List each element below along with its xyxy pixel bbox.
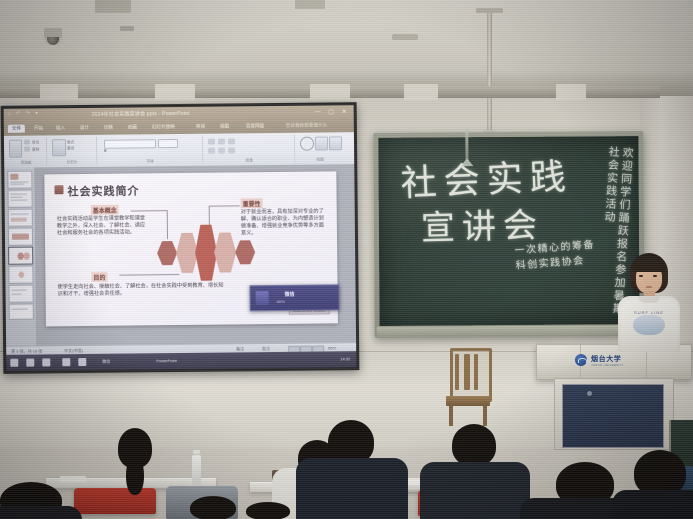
slide-canvas[interactable]: 社会实践简介 基本概念 社会实践活动是学生在课堂教学和课堂教学之外，深入社会、了… [34, 164, 356, 345]
ribbon-group-slides[interactable]: 版式 重设 幻灯片 [48, 137, 97, 166]
ribbon-tab-home[interactable]: 开始 [34, 125, 43, 131]
ribbon-tab-tellme[interactable]: 告诉我你想要做什么 [286, 122, 327, 128]
align-center-icon[interactable] [218, 148, 225, 154]
cut-label: 剪切 [32, 140, 39, 145]
section-heading-purpose: 目的 [91, 272, 107, 282]
file-explorer-icon[interactable] [62, 358, 70, 366]
taskbar-item-powerpoint[interactable]: PowerPoint [156, 358, 177, 363]
rail-clip [404, 84, 438, 100]
line-spacing-icon[interactable] [228, 147, 235, 153]
hexagon-3 [195, 225, 218, 281]
rail-clip [155, 84, 195, 100]
notification-title: 微信 [285, 291, 295, 298]
slide-thumbnail-4[interactable] [8, 228, 33, 246]
app-notification-icon [256, 291, 269, 305]
blackboard-title-line2: 宣讲会 [420, 198, 544, 250]
ribbon-group-label-paragraph: 段落 [204, 158, 294, 164]
layout-label: 版式 [67, 140, 74, 145]
powerpoint-title: 2024年社会实践宣讲会.pptx - PowerPoint [92, 110, 190, 118]
title-accent-bar [54, 185, 63, 194]
ribbon-tab-design[interactable]: 设计 [80, 125, 89, 131]
cut-icon[interactable] [24, 140, 30, 145]
water-bottle [192, 455, 201, 485]
paste-icon[interactable] [9, 140, 22, 158]
rail-clip [40, 84, 78, 100]
zoom-level[interactable]: 66% [328, 345, 336, 350]
audience-head [190, 496, 236, 519]
quick-access-toolbar[interactable]: ⌂ ↶ ↷ ▾ [8, 110, 40, 116]
window-controls[interactable]: — ▢ ✕ [315, 108, 350, 115]
slide-thumbnail-panel[interactable] [4, 168, 37, 346]
chair-slat [455, 354, 459, 390]
shirt-graphic [633, 315, 665, 335]
font-size-select[interactable] [158, 139, 178, 148]
shirt-graphic-text: SURF LINE [632, 310, 666, 315]
audience-torso [296, 458, 408, 519]
indent-icon[interactable] [228, 138, 235, 144]
notebook-paper [60, 476, 86, 482]
hexagon-5 [235, 240, 255, 264]
ribbon-group-label-clipboard: 剪贴板 [6, 160, 46, 165]
audience-torso [0, 506, 82, 519]
speaker-mount-icon [487, 8, 492, 134]
slide-thumbnail-6[interactable] [8, 266, 33, 284]
chalk-tray [377, 325, 643, 338]
numbering-icon[interactable] [218, 139, 225, 145]
presenter-mouth [646, 286, 652, 288]
blackboard-surface: 社会实践 宣讲会 一次精心的筹备 科创实践协会 欢迎同学们踊跃报名参加暑期社会实… [378, 136, 639, 326]
windows-taskbar[interactable]: 微信 PowerPoint 14:32 [6, 351, 356, 371]
taskbar-item-wechat[interactable]: 微信 [102, 359, 110, 365]
ribbon[interactable]: 剪切 复制 剪贴板 版式 重设 幻灯片 B 字体 [4, 132, 354, 169]
shapes-icon[interactable] [300, 137, 314, 151]
browser-icon[interactable] [78, 358, 86, 366]
audience-chair [74, 488, 156, 514]
presenter-speaker: SURF LINE [616, 253, 682, 351]
bold-italic-underline-icons[interactable]: B [104, 149, 110, 153]
lecture-hall-scene: ⌂ ↶ ↷ ▾ 2024年社会实践宣讲会.pptx - PowerPoint —… [0, 0, 693, 519]
chair-slat [474, 354, 478, 390]
blackboard: 社会实践 宣讲会 一次精心的筹备 科创实践协会 欢迎同学们踊跃报名参加暑期社会实… [373, 131, 644, 338]
hexagon-2 [176, 233, 198, 273]
blackboard-subtitle: 一次精心的筹备 科创实践协会 [514, 238, 597, 274]
ribbon-group-drawing[interactable]: 绘图 [296, 134, 344, 163]
ribbon-tab-review[interactable]: 审阅 [196, 124, 205, 130]
audience-head [246, 502, 290, 519]
bottle-cap [193, 450, 200, 454]
presenter-fringe [632, 259, 666, 272]
chair-slat-center [464, 354, 470, 390]
notification-toast[interactable]: 微信 66% [249, 284, 339, 311]
ribbon-tab-insert[interactable]: 插入 [56, 125, 65, 131]
audience-ponytail [126, 455, 144, 495]
slide-thumbnail-5-selected[interactable] [8, 247, 33, 265]
align-left-icon[interactable] [208, 148, 215, 154]
slide-thumbnail-3[interactable] [8, 209, 33, 227]
lectern-podium[interactable]: 烟台大学 YANTAI UNIVERSITY [536, 338, 690, 448]
font-family-select[interactable] [104, 139, 156, 149]
slide-thumbnail-7[interactable] [8, 285, 33, 303]
ribbon-tab-baidu[interactable]: 百度网盘 [246, 123, 264, 129]
projected-powerpoint[interactable]: ⌂ ↶ ↷ ▾ 2024年社会实践宣讲会.pptx - PowerPoint —… [4, 105, 357, 371]
reset-label: 重设 [67, 146, 74, 151]
ceiling-vent-icon-2 [392, 34, 418, 40]
task-view-icon[interactable] [42, 358, 50, 366]
ribbon-tab-file[interactable]: 文件 [8, 125, 25, 133]
ribbon-tab-view[interactable]: 视图 [220, 123, 229, 129]
editor-body: 社会实践简介 基本概念 社会实践活动是学生在课堂教学和课堂教学之外，深入社会、了… [4, 164, 356, 346]
bullets-icon[interactable] [208, 139, 215, 145]
new-slide-icon[interactable] [52, 139, 66, 156]
audience-torso [420, 462, 530, 519]
chair-leg [449, 406, 453, 426]
chair-seat [446, 396, 490, 406]
section-heading-importance: 重要性 [241, 198, 263, 208]
audience-head [452, 424, 496, 466]
slide-title: 社会实践简介 [67, 182, 139, 199]
projection-screen-frame: ⌂ ↶ ↷ ▾ 2024年社会实践宣讲会.pptx - PowerPoint —… [1, 102, 360, 374]
start-button-icon[interactable] [10, 359, 18, 367]
ribbon-group-paragraph[interactable]: 段落 [204, 135, 295, 164]
section-heading-basic-concept: 基本概念 [91, 205, 119, 215]
ceiling-vent-icon [120, 26, 134, 31]
ribbon-group-label-font: 字体 [98, 159, 202, 165]
slide-thumbnail-1[interactable] [7, 171, 32, 189]
ribbon-group-clipboard[interactable]: 剪切 复制 剪贴板 [6, 137, 47, 165]
copy-label: 复制 [32, 147, 39, 152]
ribbon-tab-transition[interactable]: 切换 [104, 125, 113, 131]
wooden-chair[interactable] [446, 348, 490, 426]
quick-styles-icon[interactable] [329, 136, 342, 150]
presenter-collar [638, 296, 660, 303]
hanging-lamp-icon [465, 128, 468, 162]
ribbon-group-label-slides: 幻灯片 [48, 160, 96, 166]
presenter-eye-right [653, 275, 657, 277]
ribbon-group-label-drawing: 绘图 [296, 157, 344, 163]
ceiling-panel [95, 0, 131, 13]
presenter-eye-left [639, 275, 643, 277]
arrange-icon[interactable] [315, 136, 328, 150]
notification-time: 66% [277, 299, 285, 304]
section-body-purpose: 使学生走向社会、接触社会、了解社会，在社会实践中受到教育、增长知识和才干、增强社… [57, 283, 227, 299]
slide-thumbnail-8[interactable] [9, 304, 34, 320]
rail-clip [556, 84, 586, 100]
hexagon-4 [214, 232, 236, 272]
ribbon-tab-animation[interactable]: 动画 [128, 124, 137, 130]
slide-thumbnail-2[interactable] [7, 190, 32, 208]
blackboard-title-line1: 社会实践 [400, 148, 574, 207]
university-seal-icon [575, 354, 587, 366]
audience-torso [612, 490, 693, 519]
podium-control-screen[interactable] [562, 384, 664, 448]
ribbon-group-font[interactable]: B 字体 [98, 136, 203, 165]
taskbar-clock[interactable]: 14:32 [340, 356, 350, 361]
chair-leg [483, 406, 487, 426]
rail-clip [310, 84, 350, 100]
ceiling-panel-2 [295, 0, 325, 9]
podium-logo-subtext: YANTAI UNIVERSITY [591, 363, 624, 367]
search-icon[interactable] [26, 359, 34, 367]
hexagon-1 [157, 241, 177, 265]
copy-icon[interactable] [24, 147, 30, 152]
ribbon-tab-slideshow[interactable]: 幻灯片放映 [152, 124, 175, 130]
hexagon-graphic [157, 224, 258, 283]
dome-camera-icon [44, 28, 62, 38]
